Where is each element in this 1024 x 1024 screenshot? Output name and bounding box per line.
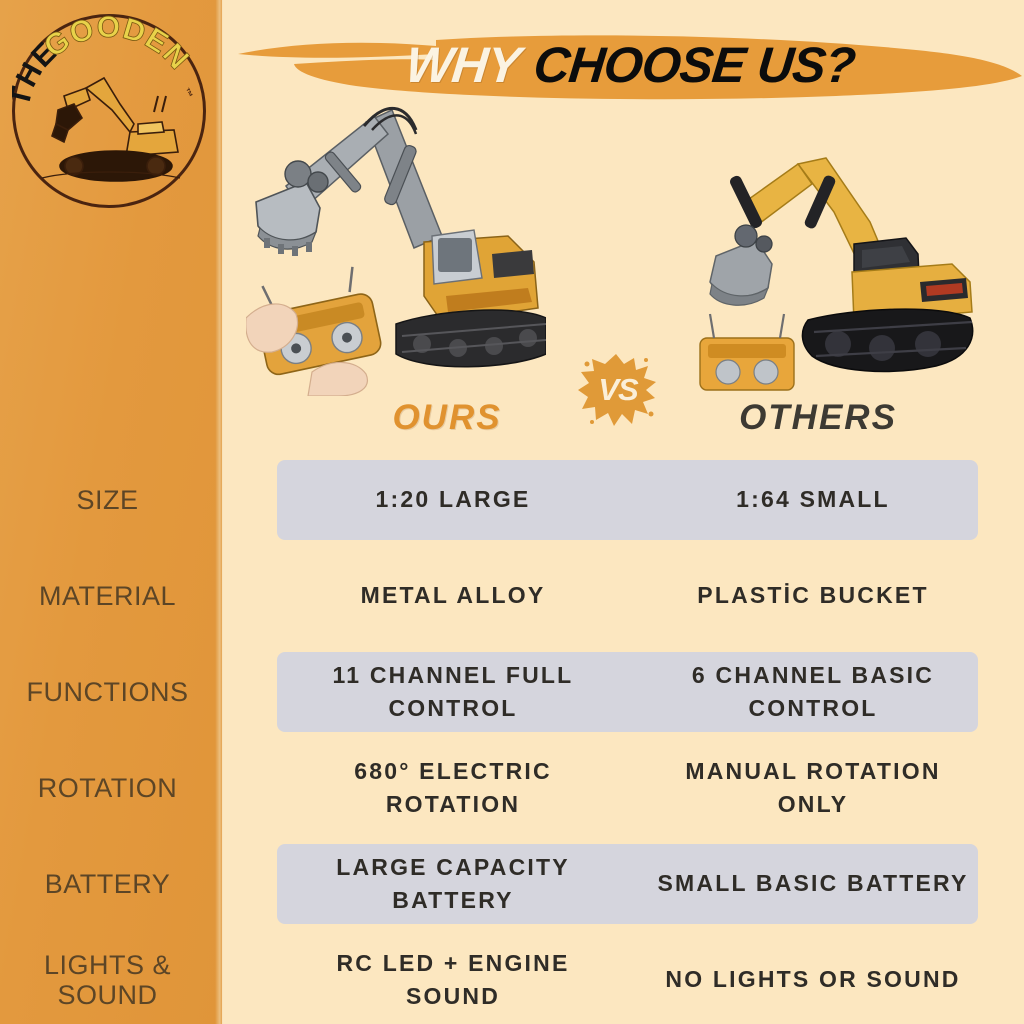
others-product-image <box>694 152 990 396</box>
table-row: LIGHTS & SOUND RC LED + ENGINE SOUND NO … <box>0 932 1024 1024</box>
row-label-rotation: ROTATION <box>0 740 215 836</box>
column-header-others: OTHERS <box>648 396 988 440</box>
excavator-icon <box>34 66 184 190</box>
cell-others-functions: 6 CHANNEL BASIC CONTROL <box>648 644 978 740</box>
cell-ours-rotation: 680° ELECTRIC ROTATION <box>288 740 618 836</box>
table-row: SIZE 1:20 LARGE 1:64 SMALL <box>0 452 1024 548</box>
column-header-ours: OURS <box>277 396 617 440</box>
row-label-battery: BATTERY <box>0 836 215 932</box>
cell-others-battery: SMALL BASIC BATTERY <box>648 836 978 932</box>
table-row: MATERIAL METAL ALLOY PLASTİC BUCKET <box>0 548 1024 644</box>
vs-label: VS <box>578 352 658 428</box>
comparison-infographic: THE GOODEN ™ <box>0 0 1024 1024</box>
cell-others-material: PLASTİC BUCKET <box>648 548 978 644</box>
row-label-functions: FUNCTIONS <box>0 644 215 740</box>
cell-ours-battery: LARGE CAPACITY BATTERY <box>288 836 618 932</box>
comparison-table: SIZE 1:20 LARGE 1:64 SMALL MATERIAL META… <box>0 452 1024 1024</box>
ours-product-image <box>246 86 546 396</box>
table-row: BATTERY LARGE CAPACITY BATTERY SMALL BAS… <box>0 836 1024 932</box>
cell-ours-functions: 11 CHANNEL FULL CONTROL <box>288 644 618 740</box>
brand-logo: THE GOODEN ™ <box>12 14 206 208</box>
cell-ours-size: 1:20 LARGE <box>288 452 618 548</box>
cell-others-lights-sound: NO LIGHTS OR SOUND <box>648 932 978 1024</box>
row-label-lights-sound: LIGHTS & SOUND <box>0 932 215 1024</box>
table-row: ROTATION 680° ELECTRIC ROTATION MANUAL R… <box>0 740 1024 836</box>
cell-ours-material: METAL ALLOY <box>288 548 618 644</box>
row-label-material: MATERIAL <box>0 548 215 644</box>
cell-ours-lights-sound: RC LED + ENGINE SOUND <box>288 932 618 1024</box>
row-label-size: SIZE <box>0 452 215 548</box>
cell-others-size: 1:64 SMALL <box>648 452 978 548</box>
cell-others-rotation: MANUAL ROTATION ONLY <box>648 740 978 836</box>
table-row: FUNCTIONS 11 CHANNEL FULL CONTROL 6 CHAN… <box>0 644 1024 740</box>
title-rest: CHOOSE US? <box>530 36 857 94</box>
